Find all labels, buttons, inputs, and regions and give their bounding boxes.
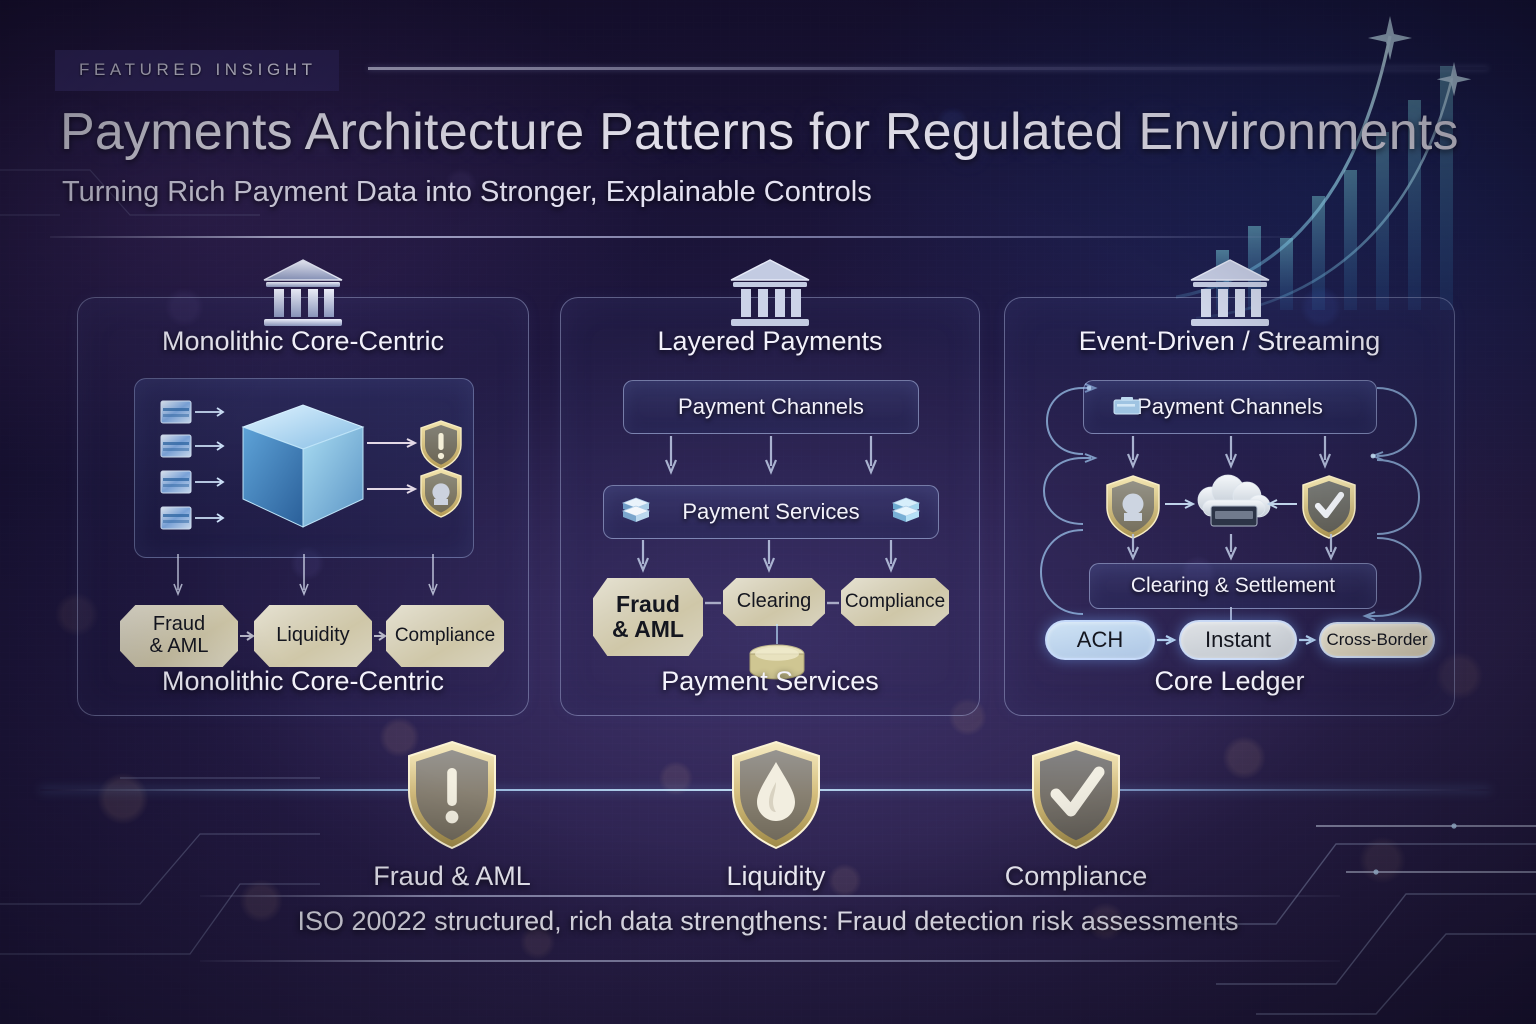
panel-title: Event-Driven / Streaming — [1005, 326, 1454, 357]
chip-chain-arrows — [78, 623, 530, 649]
document-card-icon — [161, 435, 223, 457]
bar-payment-channels[interactable]: Payment Channels — [623, 380, 919, 434]
document-card-icon — [161, 401, 223, 423]
services-to-chips-arrows — [561, 538, 981, 582]
legend-label: Compliance — [956, 861, 1196, 892]
document-card-icon — [161, 507, 223, 529]
shield-alert-icon — [405, 740, 499, 850]
database-stack-icon — [620, 497, 652, 527]
footer-caption: ISO 20022 structured, rich data strength… — [0, 906, 1536, 937]
panel-monolithic-core-centric[interactable]: Monolithic Core-Centric — [77, 297, 529, 716]
core-system-card — [134, 378, 474, 558]
rail-chain-arrows — [1005, 632, 1456, 652]
legend-item-fraud-aml[interactable]: Fraud & AML — [332, 740, 572, 892]
footer-divider-top — [200, 895, 1340, 897]
shield-droplet-icon — [729, 740, 823, 850]
bank-icon — [727, 256, 813, 330]
core-cube-icon — [243, 405, 363, 527]
bar-payment-channels[interactable]: Payment Channels — [1083, 380, 1377, 434]
bar-label: Payment Services — [682, 499, 859, 525]
bank-icon — [260, 256, 346, 330]
server-icon — [1112, 395, 1142, 419]
cloud-icon — [1198, 475, 1270, 526]
bar-clearing-settlement[interactable]: Clearing & Settlement — [1089, 563, 1377, 609]
legend-item-liquidity[interactable]: Liquidity — [656, 740, 896, 892]
infographic-canvas: FEATURED INSIGHT Payments Architecture P… — [0, 0, 1536, 1024]
document-card-icon — [161, 471, 223, 493]
panel-title: Monolithic Core-Centric — [78, 326, 528, 357]
panel-footer-label: Monolithic Core-Centric — [78, 666, 528, 697]
shield-lock-icon — [421, 469, 461, 517]
bar-label: Payment Channels — [1137, 394, 1323, 420]
panel-title: Layered Payments — [561, 326, 979, 357]
panel-footer-label: Core Ledger — [1005, 666, 1454, 697]
footer-divider-bottom — [200, 960, 1340, 962]
core-flow-graphic — [135, 379, 475, 559]
bar-label: Payment Channels — [678, 394, 864, 420]
legend-label: Fraud & AML — [332, 861, 572, 892]
chip-link-beams — [561, 593, 981, 613]
database-stack-icon — [890, 497, 922, 527]
core-to-chip-connectors — [78, 554, 530, 606]
panel-layered-payments[interactable]: Layered Payments Payment Channels — [560, 297, 980, 716]
chip-fraud-aml[interactable]: Fraud & AML — [593, 578, 703, 656]
panel-event-driven-streaming[interactable]: Event-Driven / Streaming — [1004, 297, 1455, 716]
shield-alert-icon — [421, 421, 461, 469]
legend-label: Liquidity — [656, 861, 896, 892]
bank-icon — [1187, 256, 1273, 330]
bar-label: Clearing & Settlement — [1131, 574, 1335, 598]
shield-check-icon — [1029, 740, 1123, 850]
shield-lock-icon — [1107, 476, 1159, 538]
panel-footer-label: Payment Services — [561, 666, 979, 697]
channels-to-services-arrows — [561, 434, 981, 484]
bar-payment-services[interactable]: Payment Services — [603, 485, 939, 539]
legend-item-compliance[interactable]: Compliance — [956, 740, 1196, 892]
shield-check-icon — [1303, 476, 1355, 538]
